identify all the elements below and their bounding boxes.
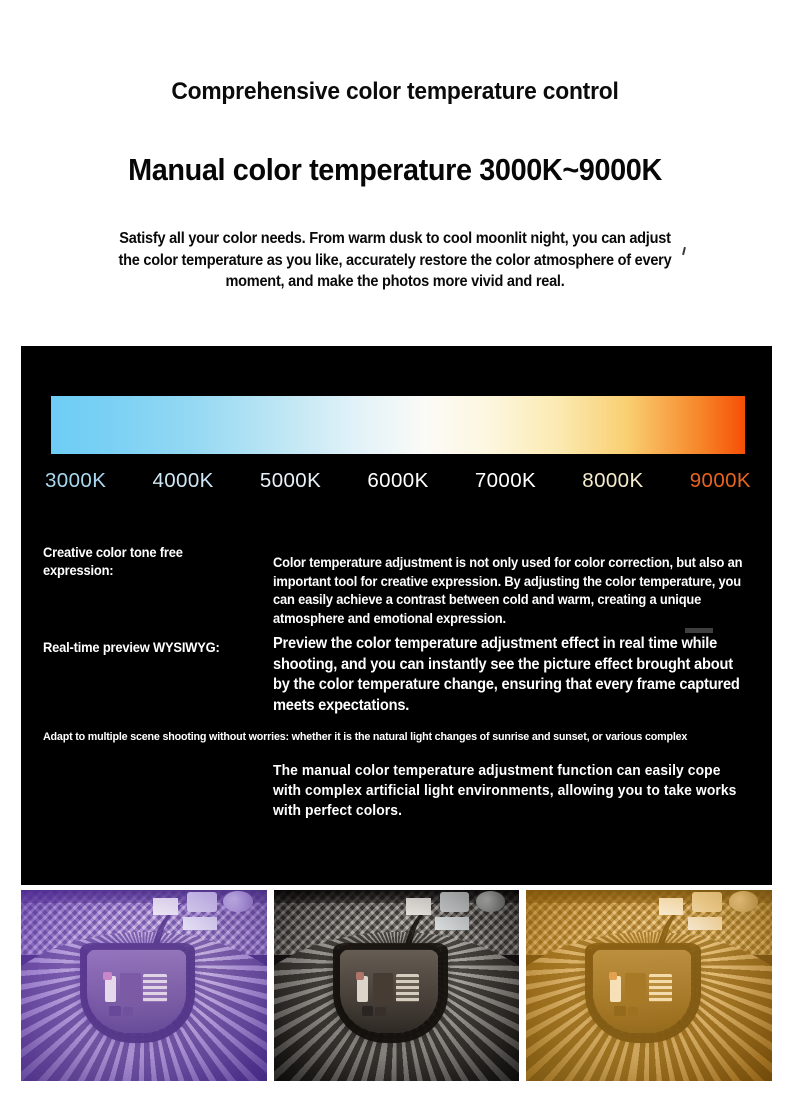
page-title: Comprehensive color temperature control [28,78,763,106]
sample-photo-gallery [21,890,772,1081]
feature-text-realtime-preview: Preview the color temperature adjustment… [273,634,748,716]
kelvin-label-6000k: 6000K [367,469,428,493]
feature-label-multi-scene: Adapt to multiple scene shooting without… [43,730,718,745]
feature-text-creative-expression: Color temperature adjustment is not only… [273,554,748,628]
cool-tone-overlay-2 [21,890,267,1081]
kelvin-label-row: 3000K 4000K 5000K 6000K 7000K 8000K 9000… [45,466,751,496]
page-subtitle: Manual color temperature 3000K~9000K [28,152,763,188]
stray-mark-icon [682,247,686,255]
kelvin-label-9000k: 9000K [690,469,751,493]
kelvin-label-3000k: 3000K [45,469,106,493]
gallery-photo-cool[interactable] [21,890,267,1081]
hero-section: Comprehensive color temperature control … [0,0,790,346]
kelvin-label-4000k: 4000K [152,469,213,493]
feature-text-multi-scene: The manual color temperature adjustment … [273,761,748,821]
kelvin-panel: 3000K 4000K 5000K 6000K 7000K 8000K 9000… [21,346,772,885]
kelvin-label-8000k: 8000K [582,469,643,493]
feature-label-realtime-preview: Real-time preview WYSIWYG: [43,639,266,657]
kelvin-label-5000k: 5000K [260,469,321,493]
kelvin-label-7000k: 7000K [475,469,536,493]
warm-tone-overlay-2 [526,890,772,1081]
gallery-photo-warm[interactable] [526,890,772,1081]
neutral-tone-overlay-2 [274,890,520,1081]
gallery-photo-neutral[interactable] [274,890,520,1081]
stray-mark-icon-2 [685,628,713,633]
feature-label-creative-expression: Creative color tone free expression: [43,544,243,580]
product-page: Comprehensive color temperature control … [0,0,790,1108]
color-temperature-gradient-bar [51,396,745,454]
hero-description: Satisfy all your color needs. From warm … [110,228,680,293]
